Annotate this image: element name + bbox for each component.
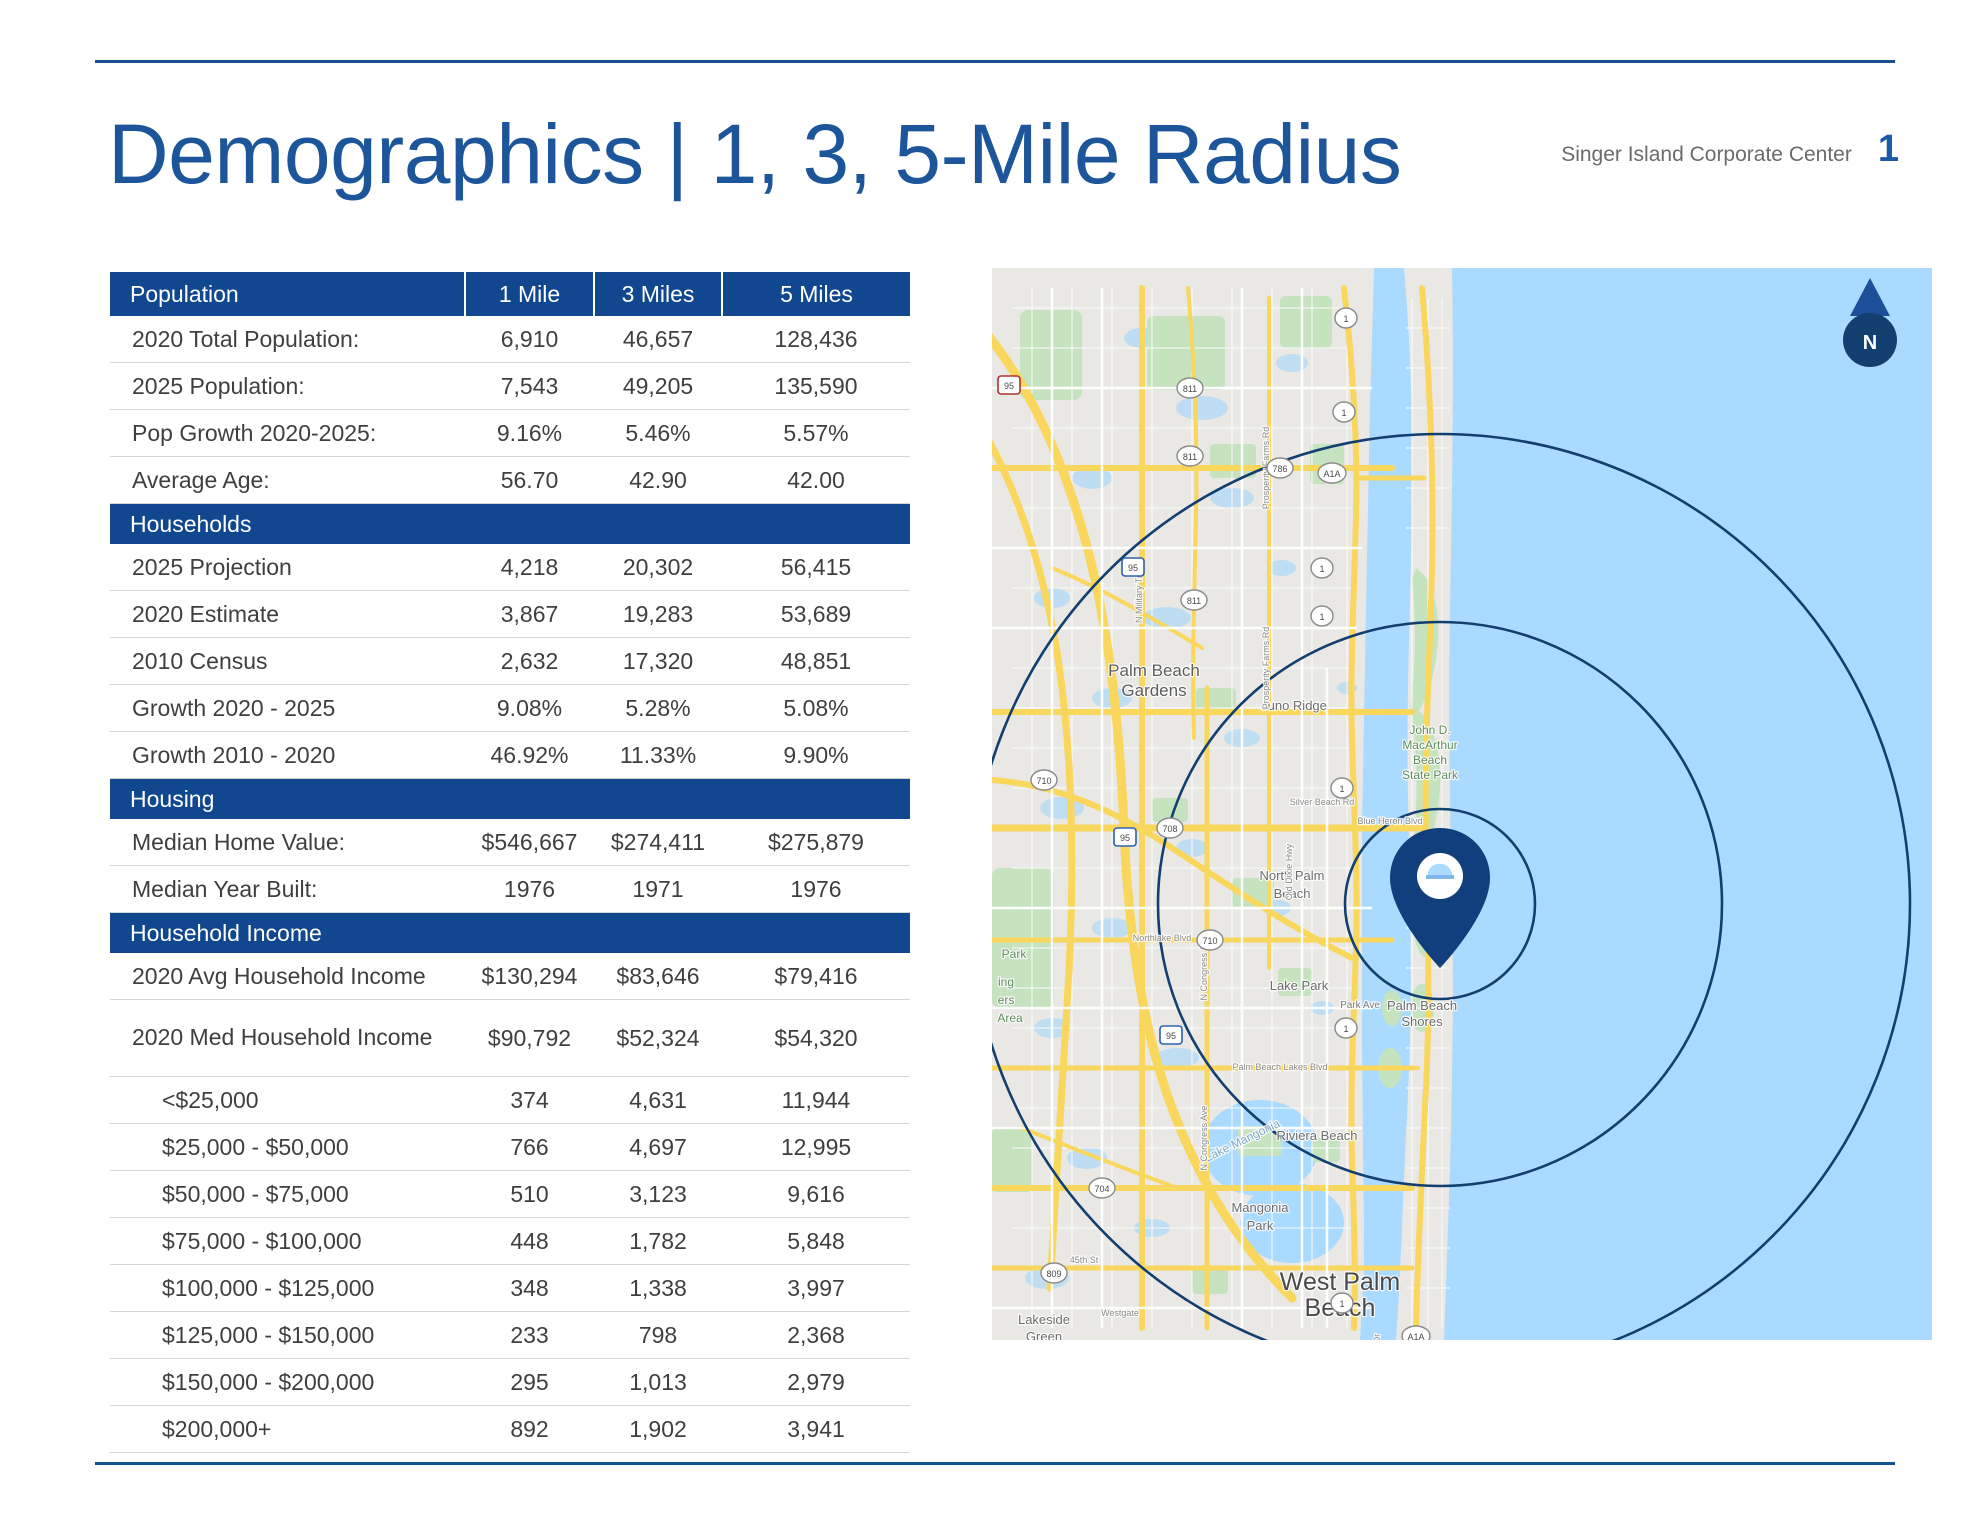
table-section-header-row: Households xyxy=(110,504,910,545)
table-row: Growth 2020 - 20259.08%5.28%5.08% xyxy=(110,685,910,732)
column-header-radius-3: 5 Miles xyxy=(722,272,910,316)
bottom-divider-rule xyxy=(95,1462,1895,1465)
row-value-3: 1976 xyxy=(722,866,910,913)
svg-text:710: 710 xyxy=(1036,776,1051,786)
row-label: $200,000+ xyxy=(110,1406,465,1453)
table-column-header-row: Population1 Mile3 Miles5 Miles xyxy=(110,272,910,316)
row-value-1: 448 xyxy=(465,1218,594,1265)
row-value-2: $274,411 xyxy=(594,819,722,866)
svg-text:State Park: State Park xyxy=(1402,768,1459,782)
row-value-3: 2,979 xyxy=(722,1359,910,1406)
svg-text:95: 95 xyxy=(1004,381,1014,391)
section-title: Housing xyxy=(110,779,910,820)
row-value-2: $52,324 xyxy=(594,1000,722,1077)
header-right-group: Singer Island Corporate Center 1 xyxy=(1561,130,1899,168)
svg-text:1: 1 xyxy=(1343,1024,1348,1034)
row-label: $125,000 - $150,000 xyxy=(110,1312,465,1359)
row-value-1: $546,667 xyxy=(465,819,594,866)
svg-text:Palm Beach: Palm Beach xyxy=(1387,998,1457,1013)
row-value-3: $275,879 xyxy=(722,819,910,866)
svg-text:Area: Area xyxy=(997,1011,1023,1025)
row-label: 2010 Census xyxy=(110,638,465,685)
table-row: 2025 Projection4,21820,30256,415 xyxy=(110,544,910,591)
table-row: $25,000 - $50,0007664,69712,995 xyxy=(110,1124,910,1171)
demographics-table: Population1 Mile3 Miles5 Miles2020 Total… xyxy=(110,272,910,1453)
table-row: Median Home Value:$546,667$274,411$275,8… xyxy=(110,819,910,866)
page-number: 1 xyxy=(1878,130,1899,168)
svg-text:Gardens: Gardens xyxy=(1121,681,1186,700)
row-label: Average Age: xyxy=(110,457,465,504)
row-value-3: 135,590 xyxy=(722,363,910,410)
row-value-3: 56,415 xyxy=(722,544,910,591)
svg-text:Green: Green xyxy=(1026,1329,1062,1340)
svg-text:N Flagler Dr: N Flagler Dr xyxy=(1372,1334,1382,1340)
svg-text:West Palm: West Palm xyxy=(1280,1268,1400,1296)
row-label: 2020 Total Population: xyxy=(110,316,465,363)
row-value-1: 2,632 xyxy=(465,638,594,685)
row-label: 2020 Avg Household Income xyxy=(110,953,465,1000)
row-value-3: 3,941 xyxy=(722,1406,910,1453)
row-value-3: $54,320 xyxy=(722,1000,910,1077)
svg-text:1: 1 xyxy=(1319,612,1324,622)
svg-text:MacArthur: MacArthur xyxy=(1402,738,1457,752)
table-row: $200,000+8921,9023,941 xyxy=(110,1406,910,1453)
svg-text:Northlake Blvd: Northlake Blvd xyxy=(1133,933,1192,943)
row-label: <$25,000 xyxy=(110,1077,465,1124)
compass-n-label: N xyxy=(1863,332,1877,354)
row-label: $50,000 - $75,000 xyxy=(110,1171,465,1218)
row-value-3: 12,995 xyxy=(722,1124,910,1171)
svg-text:Palm Beach Lakes Blvd: Palm Beach Lakes Blvd xyxy=(1232,1062,1327,1072)
table-section-header-row: Household Income xyxy=(110,913,910,954)
row-label: $25,000 - $50,000 xyxy=(110,1124,465,1171)
svg-text:Prosperity Farms Rd: Prosperity Farms Rd xyxy=(1261,627,1271,710)
column-header-radius-2: 3 Miles xyxy=(594,272,722,316)
table-section-header-row: Housing xyxy=(110,779,910,820)
svg-text:1: 1 xyxy=(1341,408,1346,418)
row-value-1: 766 xyxy=(465,1124,594,1171)
svg-text:708: 708 xyxy=(1162,824,1177,834)
svg-text:1: 1 xyxy=(1343,314,1348,324)
row-value-2: 11.33% xyxy=(594,732,722,779)
row-value-2: 19,283 xyxy=(594,591,722,638)
row-label: $100,000 - $125,000 xyxy=(110,1265,465,1312)
row-label: Median Year Built: xyxy=(110,866,465,913)
row-value-3: 11,944 xyxy=(722,1077,910,1124)
svg-text:John D.: John D. xyxy=(1409,723,1450,737)
svg-text:Old Dixie Hwy: Old Dixie Hwy xyxy=(1284,843,1294,900)
column-header-category: Population xyxy=(110,272,465,316)
table-row: 2020 Total Population:6,91046,657128,436 xyxy=(110,316,910,363)
row-value-1: 4,218 xyxy=(465,544,594,591)
row-value-2: 49,205 xyxy=(594,363,722,410)
row-value-3: 42.00 xyxy=(722,457,910,504)
row-value-1: $130,294 xyxy=(465,953,594,1000)
svg-text:95: 95 xyxy=(1128,563,1138,573)
row-value-1: 3,867 xyxy=(465,591,594,638)
table-row: 2020 Estimate3,86719,28353,689 xyxy=(110,591,910,638)
svg-text:1: 1 xyxy=(1319,564,1324,574)
row-value-3: 3,997 xyxy=(722,1265,910,1312)
row-value-3: 9,616 xyxy=(722,1171,910,1218)
row-label: $75,000 - $100,000 xyxy=(110,1218,465,1265)
svg-text:Park: Park xyxy=(1002,947,1028,961)
svg-text:A1A: A1A xyxy=(1323,469,1340,479)
svg-text:Beach: Beach xyxy=(1413,753,1447,767)
row-value-2: 42.90 xyxy=(594,457,722,504)
row-value-1: 56.70 xyxy=(465,457,594,504)
row-value-1: 348 xyxy=(465,1265,594,1312)
svg-text:811: 811 xyxy=(1183,384,1197,394)
svg-text:Lake Park: Lake Park xyxy=(1270,978,1329,993)
svg-text:Park: Park xyxy=(1247,1218,1274,1233)
row-value-3: 128,436 xyxy=(722,316,910,363)
svg-text:ing: ing xyxy=(998,975,1014,989)
page-title: Demographics | 1, 3, 5-Mile Radius xyxy=(108,112,1401,196)
section-title: Household Income xyxy=(110,913,910,954)
svg-text:704: 704 xyxy=(1094,1184,1109,1194)
row-value-3: 48,851 xyxy=(722,638,910,685)
row-value-2: 5.28% xyxy=(594,685,722,732)
table-row: 2025 Population:7,54349,205135,590 xyxy=(110,363,910,410)
row-label: Pop Growth 2020-2025: xyxy=(110,410,465,457)
svg-text:A1A: A1A xyxy=(1407,1332,1424,1340)
row-value-1: 295 xyxy=(465,1359,594,1406)
svg-text:Blue Heron Blvd: Blue Heron Blvd xyxy=(1357,816,1422,826)
column-header-radius-1: 1 Mile xyxy=(465,272,594,316)
svg-text:Palm Beach: Palm Beach xyxy=(1108,661,1200,680)
row-label: Median Home Value: xyxy=(110,819,465,866)
table-row: Median Year Built:197619711976 xyxy=(110,866,910,913)
svg-text:Mangonia: Mangonia xyxy=(1231,1200,1289,1215)
svg-text:N Military Trl: N Military Trl xyxy=(1134,573,1144,623)
svg-text:95: 95 xyxy=(1120,833,1130,843)
table-row: $75,000 - $100,0004481,7825,848 xyxy=(110,1218,910,1265)
row-value-1: $90,792 xyxy=(465,1000,594,1077)
svg-text:95: 95 xyxy=(1166,1031,1176,1041)
svg-text:809: 809 xyxy=(1046,1269,1061,1279)
row-value-3: $79,416 xyxy=(722,953,910,1000)
row-value-2: 17,320 xyxy=(594,638,722,685)
table-row: 2020 Avg Household Income$130,294$83,646… xyxy=(110,953,910,1000)
table-row: <$25,0003744,63111,944 xyxy=(110,1077,910,1124)
row-value-2: 46,657 xyxy=(594,316,722,363)
svg-text:811: 811 xyxy=(1187,596,1201,606)
svg-text:N Congress Ave: N Congress Ave xyxy=(1199,1106,1209,1171)
row-value-1: 374 xyxy=(465,1077,594,1124)
row-value-1: 7,543 xyxy=(465,363,594,410)
svg-text:811: 811 xyxy=(1183,452,1197,462)
top-divider-rule xyxy=(95,60,1895,63)
table-row: 2020 Med Household Income$90,792$52,324$… xyxy=(110,1000,910,1077)
row-value-3: 9.90% xyxy=(722,732,910,779)
svg-text:Shores: Shores xyxy=(1401,1014,1443,1029)
row-label: Growth 2020 - 2025 xyxy=(110,685,465,732)
row-label: 2025 Projection xyxy=(110,544,465,591)
row-value-1: 9.08% xyxy=(465,685,594,732)
table-row: $125,000 - $150,0002337982,368 xyxy=(110,1312,910,1359)
row-value-2: 4,697 xyxy=(594,1124,722,1171)
table-row: $100,000 - $125,0003481,3383,997 xyxy=(110,1265,910,1312)
row-value-2: 1,782 xyxy=(594,1218,722,1265)
section-title: Households xyxy=(110,504,910,545)
table-row: Pop Growth 2020-2025:9.16%5.46%5.57% xyxy=(110,410,910,457)
row-value-2: 1,338 xyxy=(594,1265,722,1312)
svg-text:Riviera Beach: Riviera Beach xyxy=(1277,1128,1358,1143)
svg-text:Silver Beach Rd: Silver Beach Rd xyxy=(1290,797,1355,807)
row-value-1: 892 xyxy=(465,1406,594,1453)
svg-text:Lakeside: Lakeside xyxy=(1018,1312,1070,1327)
svg-text:Westgate: Westgate xyxy=(1101,1308,1139,1318)
row-value-2: 5.46% xyxy=(594,410,722,457)
row-value-3: 2,368 xyxy=(722,1312,910,1359)
row-label: 2025 Population: xyxy=(110,363,465,410)
row-value-1: 46.92% xyxy=(465,732,594,779)
property-name: Singer Island Corporate Center xyxy=(1561,143,1852,167)
svg-text:ers: ers xyxy=(998,993,1015,1007)
row-label: 2020 Med Household Income xyxy=(110,1000,465,1077)
row-value-1: 9.16% xyxy=(465,410,594,457)
row-value-3: 5.57% xyxy=(722,410,910,457)
row-value-2: 20,302 xyxy=(594,544,722,591)
row-label: 2020 Estimate xyxy=(110,591,465,638)
row-value-2: 4,631 xyxy=(594,1077,722,1124)
row-value-2: 1,902 xyxy=(594,1406,722,1453)
radius-map[interactable]: Palm Beach Gardens Juno Ridge John D. Ma… xyxy=(992,268,1932,1340)
row-value-1: 6,910 xyxy=(465,316,594,363)
svg-text:786: 786 xyxy=(1272,464,1287,474)
row-value-2: $83,646 xyxy=(594,953,722,1000)
row-value-1: 510 xyxy=(465,1171,594,1218)
row-label: Growth 2010 - 2020 xyxy=(110,732,465,779)
row-value-3: 5.08% xyxy=(722,685,910,732)
row-value-3: 53,689 xyxy=(722,591,910,638)
table-row: $150,000 - $200,0002951,0132,979 xyxy=(110,1359,910,1406)
row-label: $150,000 - $200,000 xyxy=(110,1359,465,1406)
table-row: $50,000 - $75,0005103,1239,616 xyxy=(110,1171,910,1218)
row-value-3: 5,848 xyxy=(722,1218,910,1265)
table-row: 2010 Census2,63217,32048,851 xyxy=(110,638,910,685)
row-value-2: 1,013 xyxy=(594,1359,722,1406)
row-value-2: 1971 xyxy=(594,866,722,913)
svg-text:45th St: 45th St xyxy=(1070,1255,1099,1265)
table-row: Average Age:56.7042.9042.00 xyxy=(110,457,910,504)
row-value-1: 233 xyxy=(465,1312,594,1359)
row-value-1: 1976 xyxy=(465,866,594,913)
svg-text:710: 710 xyxy=(1202,936,1217,946)
svg-text:Park Ave: Park Ave xyxy=(1340,1000,1380,1011)
table-row: Growth 2010 - 202046.92%11.33%9.90% xyxy=(110,732,910,779)
row-value-2: 798 xyxy=(594,1312,722,1359)
svg-text:1: 1 xyxy=(1339,784,1344,794)
row-value-2: 3,123 xyxy=(594,1171,722,1218)
map-canvas: Palm Beach Gardens Juno Ridge John D. Ma… xyxy=(992,268,1932,1340)
svg-text:1: 1 xyxy=(1339,1299,1344,1309)
